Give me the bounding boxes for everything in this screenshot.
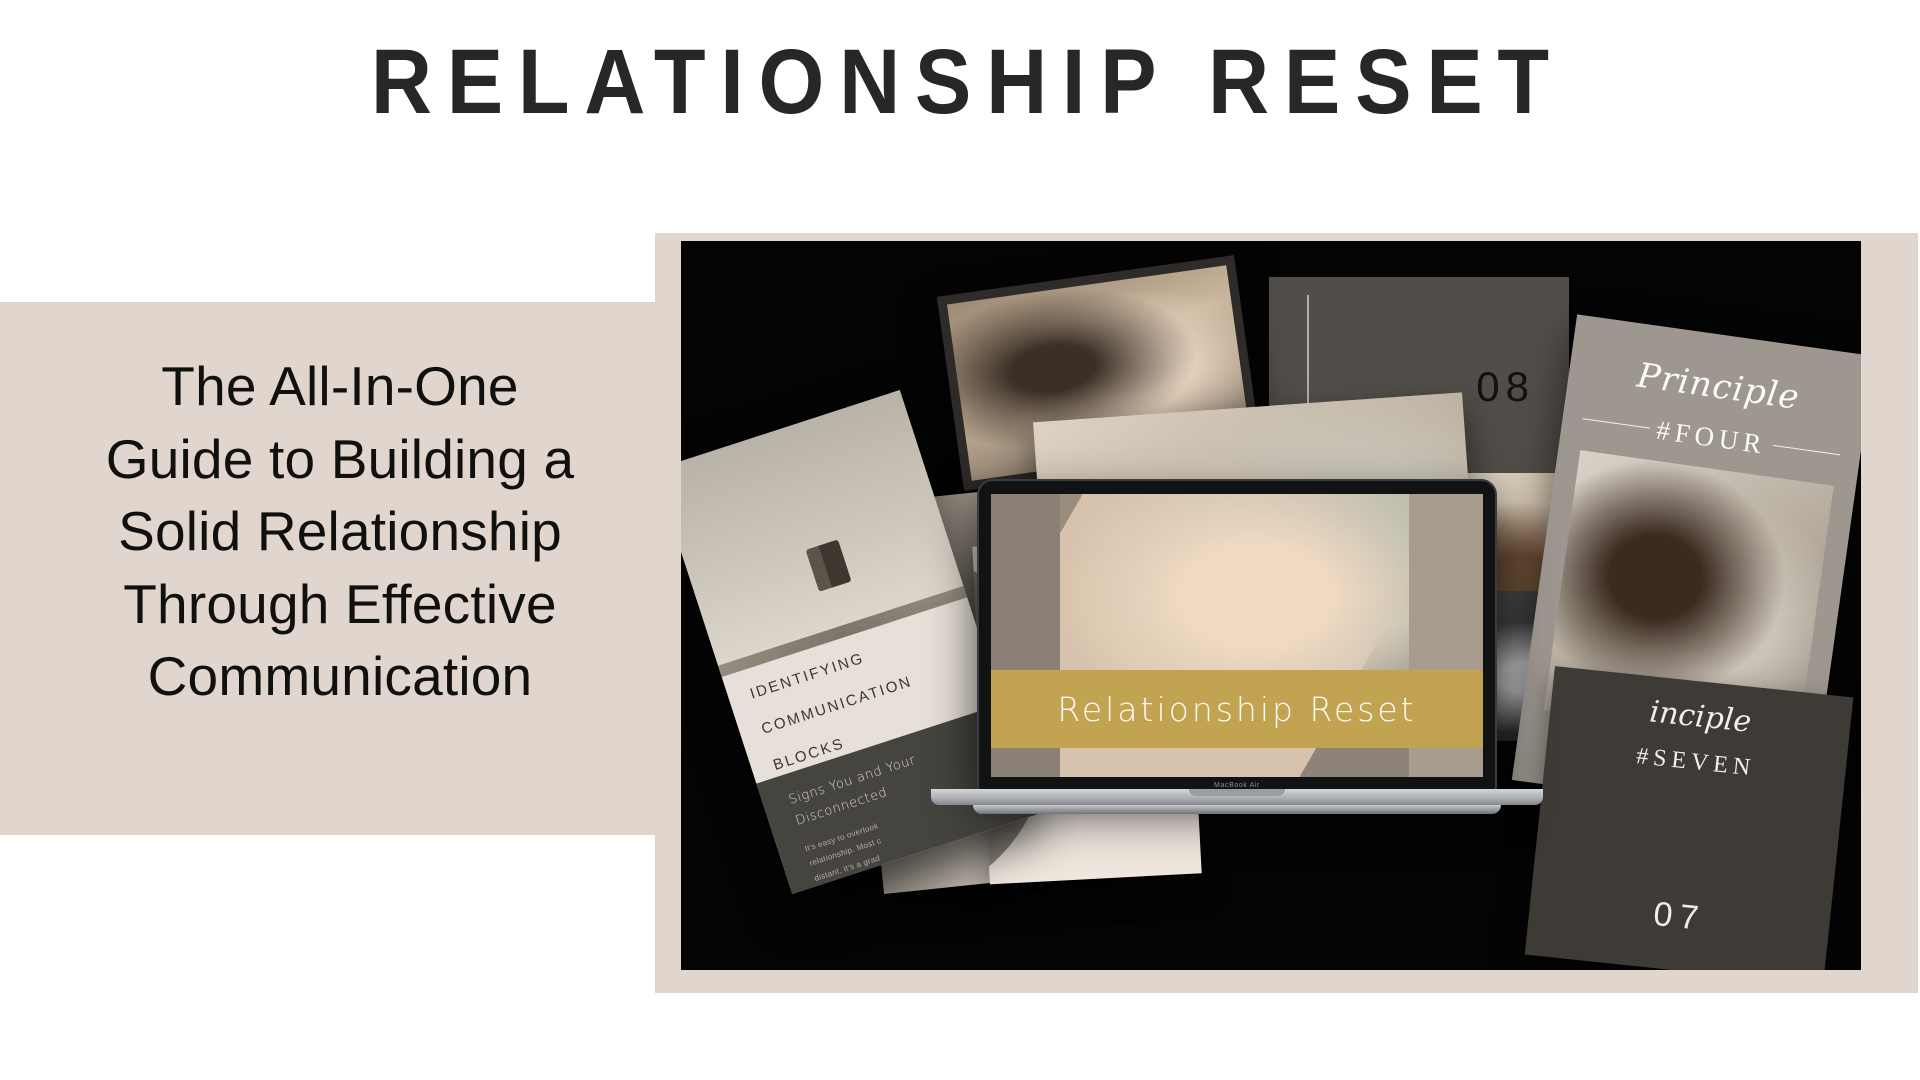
laptop-mockup: Relationship Reset MacBook Air [977, 479, 1497, 819]
screen-gold-banner: Relationship Reset [991, 670, 1483, 748]
subtitle-line-3: Solid Relationship [40, 495, 640, 568]
principle-seven-card: inciple #SEVEN 07 [1525, 666, 1854, 970]
card-08-number: 08 [1476, 363, 1535, 411]
subtitle-block: The All-In-One Guide to Building a Solid… [40, 350, 640, 713]
slide-canvas: RELATIONSHIP RESET The All-In-One Guide … [0, 0, 1920, 1080]
subtitle-line-2: Guide to Building a [40, 423, 640, 496]
screen-banner-text: Relationship Reset [1057, 690, 1416, 729]
laptop-notch [1189, 789, 1285, 796]
subtitle-line-4: Through Effective [40, 568, 640, 641]
principle-seven-big-number: 07 [1528, 882, 1830, 952]
laptop-lid: Relationship Reset [977, 479, 1497, 791]
subtitle-line-1: The All-In-One [40, 350, 640, 423]
laptop-model-label: MacBook Air [1214, 782, 1260, 789]
page-title: RELATIONSHIP RESET [77, 36, 1843, 130]
mockup-frame: 08 1 Principle #FOUR [655, 233, 1918, 993]
laptop-foot [973, 805, 1501, 814]
laptop-screen: Relationship Reset [991, 494, 1483, 777]
mockup-panel: 08 1 Principle #FOUR [681, 241, 1861, 970]
subtitle-line-5: Communication [40, 640, 640, 713]
